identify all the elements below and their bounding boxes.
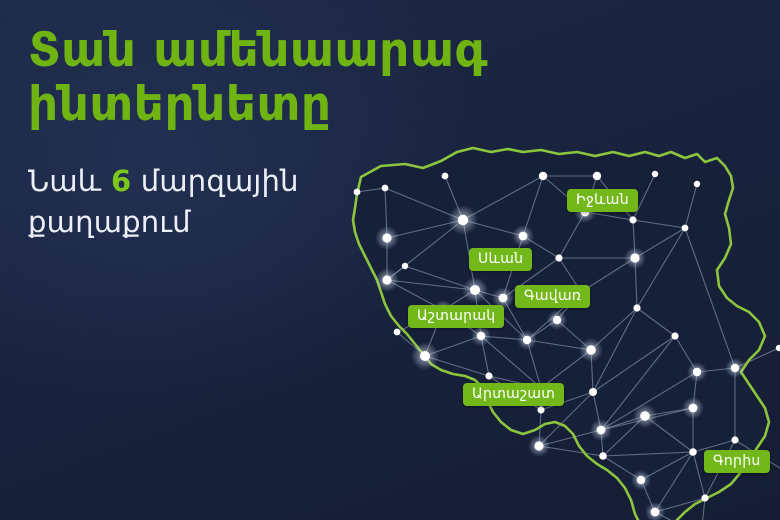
page-title: Տան ամենաարագ ինտերնետը (28, 24, 548, 131)
city-label-goris[interactable]: Գորիս (704, 450, 770, 473)
city-label-gavar[interactable]: Գավառ (515, 285, 590, 308)
subheadline-line-1: Նաև 6 մարզային (28, 161, 548, 202)
city-label-sevan[interactable]: Սևան (469, 248, 532, 271)
city-label-artashat[interactable]: Արտաշատ (463, 383, 564, 406)
subheadline-line-2: քաղաքում (28, 202, 548, 243)
poster-canvas: Տան ամենաարագ ինտերնետը Նաև 6 մարզային ք… (0, 0, 780, 520)
city-label-ijevan[interactable]: Իջևան (567, 189, 638, 212)
subheadline-before: Նաև (28, 164, 111, 198)
subheadline-after: մարզային (131, 164, 298, 198)
city-label-ashtarak[interactable]: Աշտարակ (408, 305, 504, 328)
subheadline-count: 6 (111, 164, 131, 198)
text-block: Տան ամենաարագ ինտերնետը Նաև 6 մարզային ք… (28, 24, 548, 244)
subheadline: Նաև 6 մարզային քաղաքում (28, 161, 548, 243)
